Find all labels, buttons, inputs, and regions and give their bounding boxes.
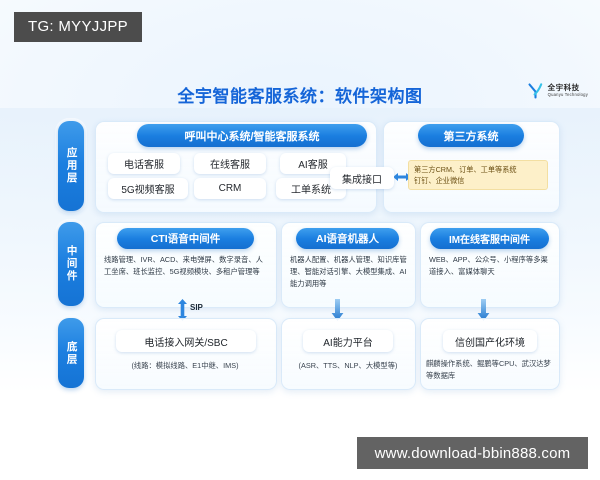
diagram-canvas: TG: MYYJJPP 全宇智能客服系统：软件架构图 全宇科技 Quanyu T… — [0, 0, 600, 480]
layer-tab-middleware: 中间件 — [58, 222, 84, 306]
third-party-note: 第三方CRM、订单、工单等系统 钉钉、企业微信 — [408, 160, 548, 190]
title-telephony-gateway[interactable]: 电话接入网关/SBC — [116, 330, 256, 352]
page-title: 全宇智能客服系统：软件架构图 — [0, 82, 600, 107]
logo-name-cn: 全宇科技 — [548, 84, 588, 92]
chip-crm[interactable]: CRM — [194, 178, 266, 199]
panel-telephony-gateway — [95, 318, 277, 390]
tg-badge: TG: MYYJJPP — [14, 12, 142, 42]
title-xinchuang-env[interactable]: 信创国产化环境 — [443, 330, 537, 352]
layer-tab-application-label: 应用层 — [64, 147, 77, 185]
chip-integration-interface[interactable]: 集成接口 — [330, 167, 394, 189]
header-cti-middleware: CTI语音中间件 — [117, 228, 254, 249]
title-ai-platform[interactable]: AI能力平台 — [303, 330, 393, 352]
chip-phone-service[interactable]: 电话客服 — [108, 153, 180, 174]
body-im-middleware: WEB、APP、公众号、小程序等多渠道接入、富媒体聊天 — [429, 254, 551, 278]
third-party-note-line1: 第三方CRM、订单、工单等系统 — [414, 165, 542, 176]
body-ai-voice-robot: 机器人配置、机器人管理、知识库管理、智能对话引擎、大模型集成、AI能力调用等 — [290, 254, 408, 289]
layer-tab-application: 应用层 — [58, 121, 84, 211]
logo-name-en: Quanyu Technology — [548, 93, 588, 97]
panel-ai-platform — [281, 318, 416, 390]
third-party-note-line2: 钉钉、企业微信 — [414, 176, 542, 187]
sub-telephony-gateway: (线路：模拟线路、E1中继、IMS) — [100, 360, 270, 372]
layer-tab-foundation-label: 底层 — [64, 341, 77, 366]
header-third-party: 第三方系统 — [418, 124, 524, 147]
sip-label: SIP — [190, 303, 203, 312]
layer-tab-foundation: 底层 — [58, 318, 84, 388]
sub-ai-platform: (ASR、TTS、NLP、大模型等) — [286, 360, 410, 372]
y-mark-logo-icon — [527, 82, 545, 100]
body-cti-middleware: 线路管理、IVR、ACD、来电弹屏、数字录音、人工坐席、班长监控、5G视频模块、… — [104, 254, 270, 278]
watermark: www.download-bbin888.com — [357, 437, 588, 469]
chip-5g-video-service[interactable]: 5G视频客服 — [108, 178, 188, 199]
layer-tab-middleware-label: 中间件 — [64, 245, 77, 283]
sub-xinchuang-env: 麒麟操作系统、鲲鹏等CPU、武汉达梦等数据库 — [426, 358, 552, 381]
header-call-center: 呼叫中心系统/智能客服系统 — [137, 124, 367, 147]
header-im-middleware: IM在线客服中间件 — [430, 228, 549, 249]
chip-online-service[interactable]: 在线客服 — [194, 153, 266, 174]
company-logo: 全宇科技 Quanyu Technology — [527, 82, 588, 100]
header-ai-voice-robot: AI语音机器人 — [296, 228, 399, 249]
